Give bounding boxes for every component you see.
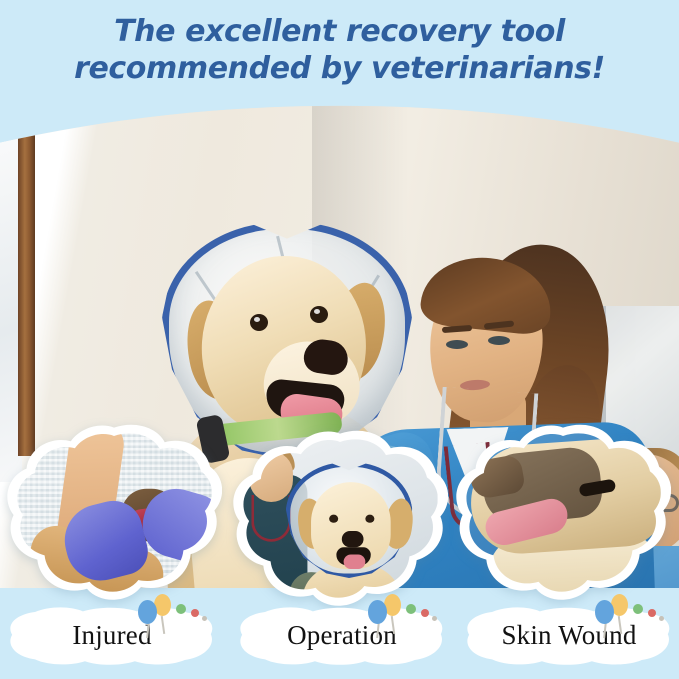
blue-balloon-icon — [368, 600, 387, 624]
label-skin-wound: Skin Wound — [465, 606, 673, 666]
promo-image-root: The excellent recovery tool recommended … — [0, 0, 679, 679]
label-injured: Injured — [8, 606, 216, 666]
headline-line-1: The excellent recovery tool — [114, 14, 565, 49]
label-operation: Operation — [238, 606, 446, 666]
green-dot-icon — [633, 604, 643, 614]
balloon-decoration — [128, 592, 204, 626]
blue-balloon-icon — [138, 600, 157, 624]
green-dot-icon — [176, 604, 186, 614]
blue-balloon-icon — [595, 600, 614, 624]
headline-line-2: recommended by veterinarians! — [0, 51, 679, 88]
small-dot-icon — [432, 616, 437, 621]
small-dot-icon — [202, 616, 207, 621]
page-title: The excellent recovery tool recommended … — [0, 14, 679, 87]
balloon-decoration — [585, 592, 661, 626]
small-dot-icon — [659, 616, 664, 621]
green-dot-icon — [406, 604, 416, 614]
red-dot-icon — [648, 609, 656, 617]
use-case-labels: Injured Operation — [0, 0, 679, 679]
red-dot-icon — [191, 609, 199, 617]
red-dot-icon — [421, 609, 429, 617]
balloon-decoration — [358, 592, 434, 626]
